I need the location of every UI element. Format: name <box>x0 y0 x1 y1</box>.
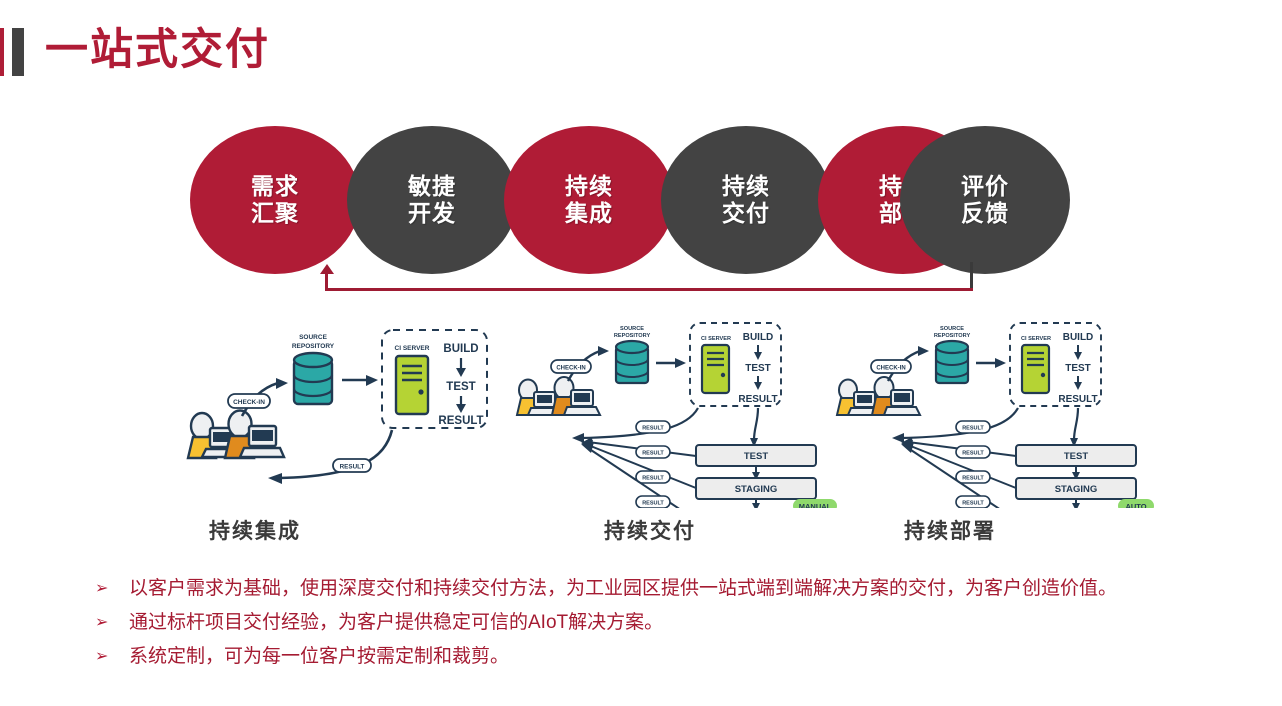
ci-step-build: BUILD <box>1063 332 1094 343</box>
bullet-arrow-icon: ➢ <box>95 608 129 637</box>
ci-step-build: BUILD <box>443 343 478 355</box>
result-badge-1: RESULT <box>956 421 990 433</box>
pipeline-stage-2-line1: 敏捷 <box>408 173 456 200</box>
pipeline-box-staging: STAGING <box>1016 478 1136 499</box>
result-badge-4: RESULT <box>956 496 990 508</box>
pipeline-stage-2-line2: 开发 <box>408 200 456 227</box>
svg-text:SOURCE: SOURCE <box>940 326 964 332</box>
pipeline-stage-3[interactable]: 持续 集成 <box>504 126 674 274</box>
badge-auto: AUTO <box>1118 499 1154 508</box>
diagram-continuous-delivery: CHECK-IN SOURCE REPOSITORY CI SERVER <box>510 318 840 508</box>
ci-server-icon <box>396 356 428 414</box>
caption-continuous-deployment: 持续部署 <box>830 515 1070 545</box>
pipeline-stage-6[interactable]: 评价 反馈 <box>900 126 1070 274</box>
bullet-item-1-text: 以客户需求为基础，使用深度交付和持续交付方法，为工业园区提供一站式端到端解决方案… <box>129 574 1235 603</box>
ci-server-label: CI SERVER <box>1021 336 1051 342</box>
feedback-loop-horizontal-segment <box>325 288 973 291</box>
svg-text:REPOSITORY: REPOSITORY <box>292 343 335 350</box>
ci-step-test: TEST <box>1065 363 1091 374</box>
svg-text:RESULT: RESULT <box>962 476 984 482</box>
svg-text:REPOSITORY: REPOSITORY <box>614 333 651 339</box>
caption-continuous-integration: 持续集成 <box>135 515 375 545</box>
developer-icon-2 <box>872 377 920 415</box>
checkin-badge: CHECK-IN <box>228 394 270 408</box>
svg-text:SOURCE: SOURCE <box>620 326 644 332</box>
bullet-arrow-icon: ➢ <box>95 642 129 671</box>
checkin-badge: CHECK-IN <box>871 360 911 373</box>
diagram-captions: 持续集成 持续交付 持续部署 <box>0 515 1282 549</box>
bullet-item-3-text: 系统定制，可为每一位客户按需定制和裁剪。 <box>129 642 1235 671</box>
pipeline-stage-6-line1: 评价 <box>961 173 1009 200</box>
pipeline-stage-3-line1: 持续 <box>565 173 613 200</box>
svg-text:SOURCE: SOURCE <box>299 334 327 341</box>
checkin-label: CHECK-IN <box>876 366 905 372</box>
pipeline-box-test: TEST <box>696 445 816 466</box>
svg-text:REPOSITORY: REPOSITORY <box>934 333 971 339</box>
svg-text:RESULT: RESULT <box>642 501 664 507</box>
bullet-arrow-icon: ➢ <box>95 574 129 603</box>
pipeline-stage-3-line2: 集成 <box>565 200 613 227</box>
svg-text:RESULT: RESULT <box>642 451 664 457</box>
developer-icon-2 <box>552 377 600 415</box>
svg-text:RESULT: RESULT <box>642 476 664 482</box>
svg-text:RESULT: RESULT <box>962 501 984 507</box>
result-badge-2: RESULT <box>636 446 670 458</box>
result-badge-4: RESULT <box>636 496 670 508</box>
ci-step-build: BUILD <box>743 332 774 343</box>
source-repository-icon: SOURCE REPOSITORY <box>934 326 971 383</box>
pipeline-stage-4-line1: 持续 <box>722 173 770 200</box>
svg-text:RESULT: RESULT <box>962 451 984 457</box>
source-repository-icon: SOURCE REPOSITORY <box>292 334 335 404</box>
pipeline-stage-2[interactable]: 敏捷 开发 <box>347 126 517 274</box>
bullet-list: ➢ 以客户需求为基础，使用深度交付和持续交付方法，为工业园区提供一站式端到端解决… <box>95 574 1235 676</box>
svg-text:RESULT: RESULT <box>962 426 984 432</box>
ci-server-label: CI SERVER <box>395 345 430 352</box>
svg-text:STAGING: STAGING <box>1055 484 1098 495</box>
pipeline-stage-4[interactable]: 持续 交付 <box>661 126 831 274</box>
ci-step-result: RESULT <box>738 394 777 405</box>
pipeline-box-staging: STAGING <box>696 478 816 499</box>
pipeline-stage-4-line2: 交付 <box>722 200 770 227</box>
pipeline-stage-1-line2: 汇聚 <box>251 200 299 227</box>
svg-text:STAGING: STAGING <box>735 484 778 495</box>
title-accent-bar-gray <box>12 28 24 76</box>
ci-step-result: RESULT <box>438 415 483 427</box>
svg-text:MANUAL: MANUAL <box>799 502 832 508</box>
result-badge: RESULT <box>333 459 371 472</box>
pipeline-box-test: TEST <box>1016 445 1136 466</box>
developer-icon-2 <box>225 411 284 459</box>
svg-text:TEST: TEST <box>744 451 768 462</box>
checkin-label: CHECK-IN <box>233 399 265 406</box>
bullet-item-2: ➢ 通过标杆项目交付经验，为客户提供稳定可信的AIoT解决方案。 <box>95 608 1235 637</box>
result-badge-3: RESULT <box>956 471 990 483</box>
bullet-item-2-text: 通过标杆项目交付经验，为客户提供稳定可信的AIoT解决方案。 <box>129 608 1235 637</box>
diagram-continuous-integration: CHECK-IN SOURCE REPOSITORY CI SERVER <box>170 318 500 508</box>
ci-step-test: TEST <box>745 363 771 374</box>
pipeline-stage-1-line1: 需求 <box>251 173 299 200</box>
page-title: 一站式交付 <box>45 22 270 78</box>
feedback-loop-right-segment <box>970 262 973 291</box>
pipeline-stages: 需求 汇聚 敏捷 开发 持续 集成 持续 交付 持续 部署 评价 反馈 <box>0 126 1282 276</box>
ci-server-icon <box>702 345 729 393</box>
bullet-item-3: ➢ 系统定制，可为每一位客户按需定制和裁剪。 <box>95 642 1235 671</box>
feedback-loop-arrow-icon <box>320 264 334 274</box>
ci-server-label: CI SERVER <box>701 336 731 342</box>
caption-continuous-delivery: 持续交付 <box>530 515 770 545</box>
svg-text:AUTO: AUTO <box>1125 502 1146 508</box>
ci-server-icon <box>1022 345 1049 393</box>
checkin-badge: CHECK-IN <box>551 360 591 373</box>
source-repository-icon: SOURCE REPOSITORY <box>614 326 651 383</box>
pipeline-stage-1[interactable]: 需求 汇聚 <box>190 126 360 274</box>
pipeline-stage-6-line2: 反馈 <box>961 200 1009 227</box>
svg-text:TEST: TEST <box>1064 451 1088 462</box>
devops-diagrams: CHECK-IN SOURCE REPOSITORY CI SERVER <box>0 318 1282 508</box>
checkin-label: CHECK-IN <box>556 366 585 372</box>
bullet-item-1: ➢ 以客户需求为基础，使用深度交付和持续交付方法，为工业园区提供一站式端到端解决… <box>95 574 1235 603</box>
title-accent-bar-red <box>0 28 4 76</box>
result-label: RESULT <box>340 464 365 471</box>
ci-step-test: TEST <box>446 381 475 393</box>
svg-text:RESULT: RESULT <box>642 426 664 432</box>
feedback-loop-left-segment <box>325 272 328 290</box>
result-badge-1: RESULT <box>636 421 670 433</box>
diagram-continuous-deployment: CHECK-IN SOURCE REPOSITORY CI SERVER <box>830 318 1160 508</box>
result-badge-3: RESULT <box>636 471 670 483</box>
ci-step-result: RESULT <box>1058 394 1097 405</box>
result-badge-2: RESULT <box>956 446 990 458</box>
